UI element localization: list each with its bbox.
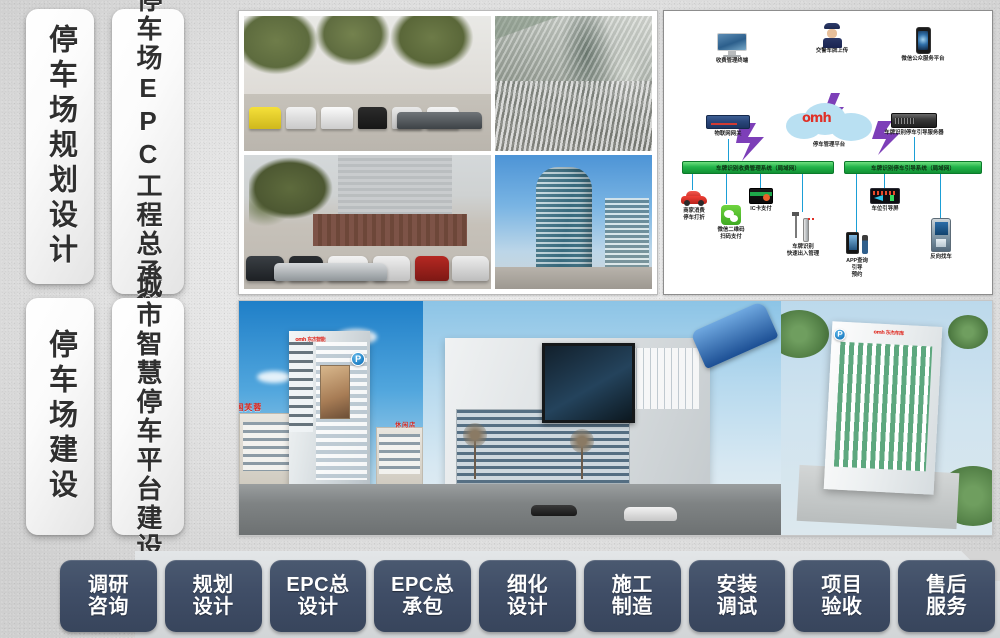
process-step-construction-mfg[interactable]: 施工 制造 (584, 560, 681, 632)
node-label: 物联网网关 (686, 131, 770, 138)
car-icon (681, 190, 707, 206)
process-steps: 调研 咨询 规划 设计 EPC总 设计 EPC总 承包 细化 设计 施工 制造 … (60, 560, 995, 632)
phone-icon (916, 27, 931, 54)
photo-cars-row (244, 99, 491, 129)
car (531, 505, 577, 517)
pillar-label-planning-design: 停车场规划设计 (46, 24, 75, 269)
app-phone-icon (846, 232, 868, 256)
item-label: APP查询引导预约 (838, 258, 876, 278)
step-line-2: 制造 (612, 596, 653, 618)
connector-line (914, 137, 915, 161)
step-line-2: 服务 (926, 596, 967, 618)
item-ic-card-pay: IC卡支付 (742, 188, 780, 213)
monitor-icon (717, 33, 747, 57)
connector-line (856, 174, 857, 232)
node-iot-gateway: 物联网网关 (686, 115, 770, 138)
pillar-card-epc-contracting[interactable]: 停车场EPC工程总承包 (112, 9, 184, 294)
led-sign-icon (870, 188, 900, 204)
step-line-1: 细化 (507, 574, 548, 596)
connector-line (692, 174, 693, 190)
step-line-1: 施工 (612, 574, 653, 596)
step-line-2: 调试 (717, 596, 758, 618)
shop-sign-left: 国芙蓉 (239, 402, 262, 413)
item-label: 微信二维码扫码支付 (708, 227, 754, 241)
photo-cars-row (244, 241, 491, 281)
parking-tower: omh 东杰智能 P (289, 331, 370, 499)
render-panel: 国芙蓉 休闲店 omh 东杰智能 P omh 东杰车库 P (238, 300, 993, 536)
service-pillars: 停车场规划设计 停车场EPC工程总承包 停车场建设 城市智慧停车平台建设 (0, 0, 232, 548)
process-step-epc-design[interactable]: EPC总 设计 (270, 560, 367, 632)
omh-logo: omh 东杰车库 (873, 329, 903, 338)
node-label: 停车管理平台 (776, 142, 882, 149)
process-step-survey-consult[interactable]: 调研 咨询 (60, 560, 157, 632)
step-line-1: EPC总 (286, 574, 349, 596)
render-wide-garage: omh 东杰车库 P (423, 301, 781, 535)
node-label: 车牌识别停车引导服务器 (864, 130, 964, 137)
section-bar-anpr-charging-system: 车牌识别收费管理系统（局域网） (682, 161, 834, 174)
pillar-card-smart-platform[interactable]: 城市智慧停车平台建设 (112, 298, 184, 535)
pillar-label-construction: 停车场建设 (46, 329, 75, 504)
node-label: 交警车牌上传 (796, 48, 868, 55)
item-space-guide-screen: 车位引导屏 (866, 188, 904, 213)
node-label: 收费管理终端 (696, 58, 768, 65)
node-anpr-guide-server: 车牌识别停车引导服务器 (864, 113, 964, 137)
gateway-icon (706, 115, 750, 129)
process-step-after-sales[interactable]: 售后 服务 (898, 560, 995, 632)
item-label: 车牌识别快速出入管理 (780, 244, 826, 258)
step-line-2: 验收 (821, 596, 862, 618)
process-step-epc-contract[interactable]: EPC总 承包 (374, 560, 471, 632)
photo-lot-brick-building (244, 155, 491, 290)
photo-glass-tower (495, 155, 652, 290)
step-line-1: 调研 (88, 574, 129, 596)
photo-street-parking-lot (244, 16, 491, 151)
node-wechat-service-platform: 微信公众服务平台 (880, 27, 966, 63)
step-line-2: 设计 (297, 596, 338, 618)
shop-sign-right: 休闲店 (395, 420, 416, 429)
parking-tower: omh 东杰车库 P (823, 322, 941, 496)
adjacent-building (239, 413, 294, 488)
step-line-1: 规划 (193, 574, 234, 596)
car (624, 507, 678, 521)
connector-line (728, 139, 729, 161)
render-aerial-tower: omh 东杰车库 P (781, 301, 992, 535)
pillar-label-epc-contracting: 停车场EPC工程总承包 (135, 0, 161, 317)
barrier-icon (792, 212, 814, 242)
step-line-2: 设计 (193, 596, 234, 618)
connector-line (884, 174, 885, 188)
item-label: IC卡支付 (742, 206, 780, 213)
pillar-card-construction[interactable]: 停车场建设 (26, 298, 94, 535)
step-line-2: 咨询 (88, 596, 129, 618)
kiosk-icon (931, 218, 951, 252)
process-step-project-accept[interactable]: 项目 验收 (793, 560, 890, 632)
parking-badge: P (833, 328, 846, 341)
wechat-icon (721, 205, 741, 225)
pillar-label-smart-platform: 城市智慧停车平台建设 (135, 272, 161, 562)
item-reverse-car-finder: 反向找车 (922, 218, 960, 261)
process-step-detail-design[interactable]: 细化 设计 (479, 560, 576, 632)
node-traffic-police-upload: 交警车牌上传 (796, 23, 868, 55)
item-app-query-guide: APP查询引导预约 (838, 232, 876, 278)
photo-aerial-parking (495, 16, 652, 151)
card-icon (749, 188, 773, 204)
police-icon (822, 23, 842, 47)
connector-line (760, 174, 761, 188)
node-label: 微信公众服务平台 (880, 56, 966, 63)
cloud-icon: omh (786, 101, 872, 141)
step-line-2: 承包 (402, 596, 443, 618)
node-charge-management-terminal: 收费管理终端 (696, 33, 768, 65)
system-architecture-diagram: 收费管理终端 交警车牌上传 微信公众服务平台 omh 停车管理平台 物联网网 (663, 10, 993, 295)
server-icon (891, 113, 937, 128)
connector-line (940, 174, 941, 218)
render-tower-garage: 国芙蓉 休闲店 omh 东杰智能 P (239, 301, 423, 535)
item-label: 车位引导屏 (866, 206, 904, 213)
photo-panel (238, 10, 658, 295)
led-billboard (542, 343, 635, 423)
parking-badge: P (351, 352, 365, 366)
section-bar-anpr-guidance-system: 车牌识别停车引导系统（局域网） (844, 161, 982, 174)
photo-tree (249, 157, 338, 235)
connector-line (802, 174, 803, 212)
process-step-install-debug[interactable]: 安装 调试 (689, 560, 786, 632)
process-step-planning-design[interactable]: 规划 设计 (165, 560, 262, 632)
connector-line (726, 174, 727, 204)
photo-street-base (495, 267, 652, 289)
pillar-card-planning-design[interactable]: 停车场规划设计 (26, 9, 94, 284)
step-line-1: EPC总 (391, 574, 454, 596)
step-line-1: 售后 (926, 574, 967, 596)
step-line-1: 安装 (717, 574, 758, 596)
step-line-2: 设计 (507, 596, 548, 618)
adjacent-building (376, 427, 424, 488)
item-label: 反向找车 (922, 254, 960, 261)
item-anpr-fast-access: 车牌识别快速出入管理 (780, 212, 826, 258)
step-line-1: 项目 (821, 574, 862, 596)
omh-logo: omh 东杰智能 (295, 336, 325, 343)
omh-logo: omh (802, 111, 831, 126)
